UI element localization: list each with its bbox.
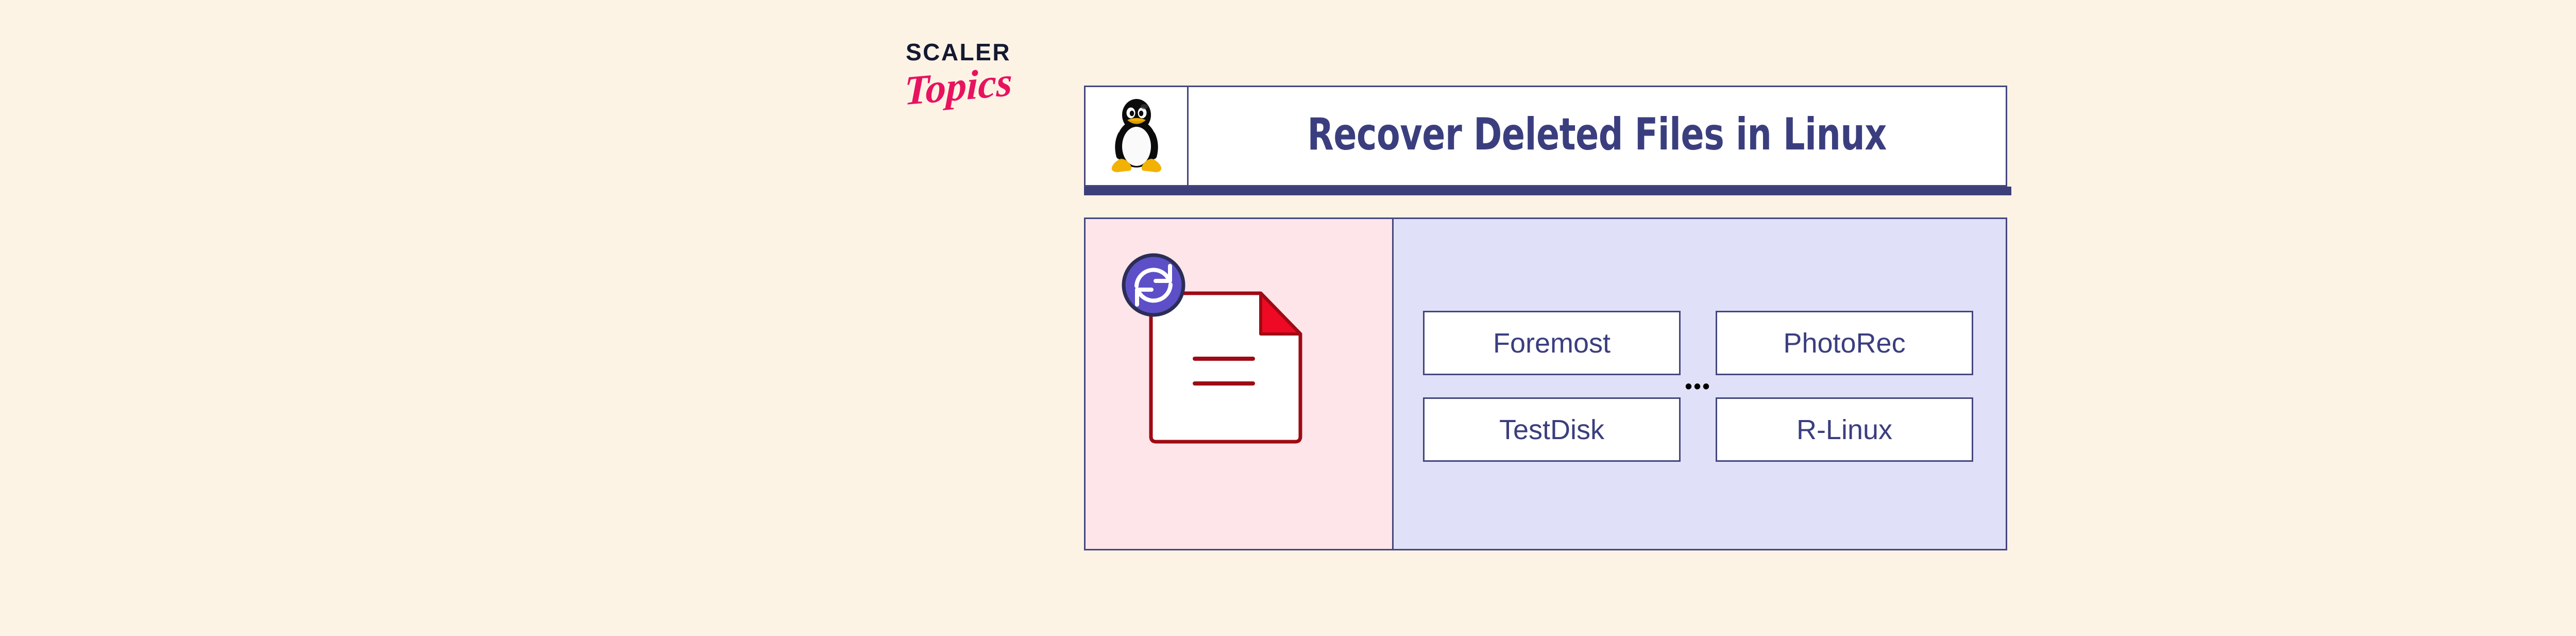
illustration-panel xyxy=(1084,217,1392,550)
tool-box-label: R-Linux xyxy=(1797,414,1892,446)
header-card: Recover Deleted Files in Linux xyxy=(1084,86,2007,187)
tool-box-label: TestDisk xyxy=(1499,414,1604,446)
content-panels: Foremost PhotoRec ••• TestDisk R-Linux xyxy=(1084,217,2007,550)
header-logo-cell xyxy=(1086,87,1189,185)
page-title: Recover Deleted Files in Linux xyxy=(1308,109,1887,160)
brand-name-topics: Topics xyxy=(891,61,1025,112)
scaler-topics-logo: SCALER Topics xyxy=(891,40,1025,143)
linux-tux-penguin-icon xyxy=(1106,96,1167,176)
tool-box-r-linux[interactable]: R-Linux xyxy=(1716,397,1973,462)
tools-panel: Foremost PhotoRec ••• TestDisk R-Linux xyxy=(1392,217,2007,550)
tool-list-ellipsis: ••• xyxy=(1423,375,1973,397)
header-title-cell: Recover Deleted Files in Linux xyxy=(1189,87,2006,185)
tool-box-photorec[interactable]: PhotoRec xyxy=(1716,311,1973,375)
deleted-document-icon xyxy=(1123,257,1339,474)
header-shadow-bar xyxy=(1084,187,2011,195)
tool-box-testdisk[interactable]: TestDisk xyxy=(1423,397,1681,462)
tool-box-label: PhotoRec xyxy=(1783,327,1905,359)
refresh-sync-icon xyxy=(1121,252,1187,321)
tool-box-foremost[interactable]: Foremost xyxy=(1423,311,1681,375)
tool-grid: Foremost PhotoRec ••• TestDisk R-Linux xyxy=(1423,311,1979,462)
tool-box-label: Foremost xyxy=(1493,327,1611,359)
